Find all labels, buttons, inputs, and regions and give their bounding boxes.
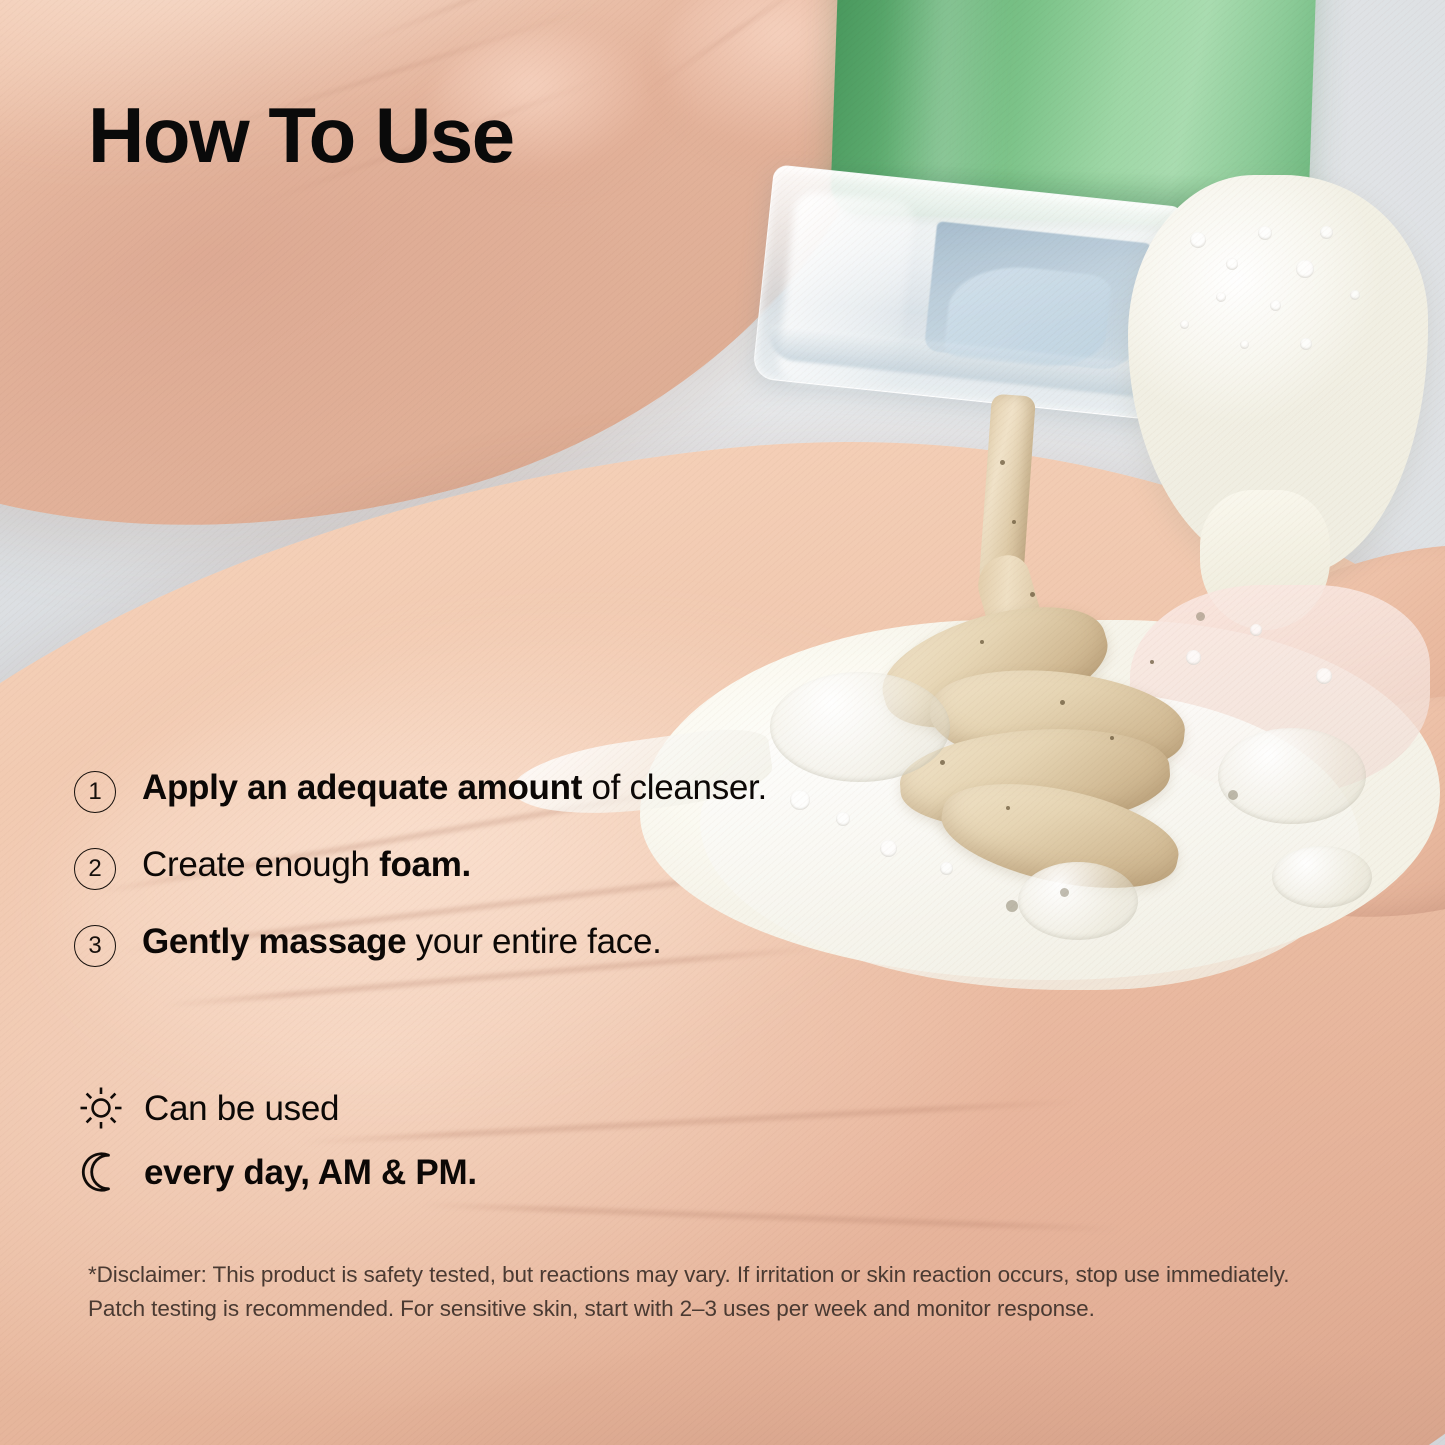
- step-number-circle-3: 3: [74, 925, 116, 967]
- step-1-bold: Apply an adequate amount: [142, 768, 582, 807]
- step-2-bold: foam.: [379, 845, 471, 884]
- usage-frequency-block: Can be used every day, AM & PM.: [74, 1082, 477, 1198]
- step-item-1: 1 Apply an adequate amount of cleanser.: [74, 766, 954, 813]
- step-1-rest: of cleanser.: [582, 768, 767, 807]
- product-photo: [0, 0, 1445, 1445]
- step-text-1: Apply an adequate amount of cleanser.: [142, 766, 767, 810]
- how-to-use-panel: How To Use 1 Apply an adequate amount of…: [0, 0, 1445, 1445]
- step-2-lead: Create enough: [142, 845, 379, 884]
- step-number-circle-2: 2: [74, 848, 116, 890]
- step-number-circle-1: 1: [74, 771, 116, 813]
- step-item-3: 3 Gently massage your entire face.: [74, 920, 954, 967]
- step-item-2: 2 Create enough foam.: [74, 843, 954, 890]
- skin-texture: [0, 0, 1445, 1445]
- step-3-rest: your entire face.: [406, 922, 661, 961]
- step-text-3: Gently massage your entire face.: [142, 920, 662, 964]
- moon-icon: [74, 1146, 128, 1198]
- page-title: How To Use: [88, 96, 514, 174]
- sun-icon: [74, 1082, 128, 1134]
- usage-row-day: Can be used: [74, 1082, 477, 1134]
- usage-night-bold: every day, AM & PM.: [144, 1153, 477, 1192]
- usage-text-day: Can be used: [144, 1091, 339, 1126]
- step-text-2: Create enough foam.: [142, 843, 471, 887]
- usage-text-night: every day, AM & PM.: [144, 1155, 477, 1190]
- steps-list: 1 Apply an adequate amount of cleanser. …: [74, 766, 954, 967]
- step-3-bold: Gently massage: [142, 922, 406, 961]
- usage-row-night: every day, AM & PM.: [74, 1146, 477, 1198]
- disclaimer-text: *Disclaimer: This product is safety test…: [88, 1258, 1318, 1326]
